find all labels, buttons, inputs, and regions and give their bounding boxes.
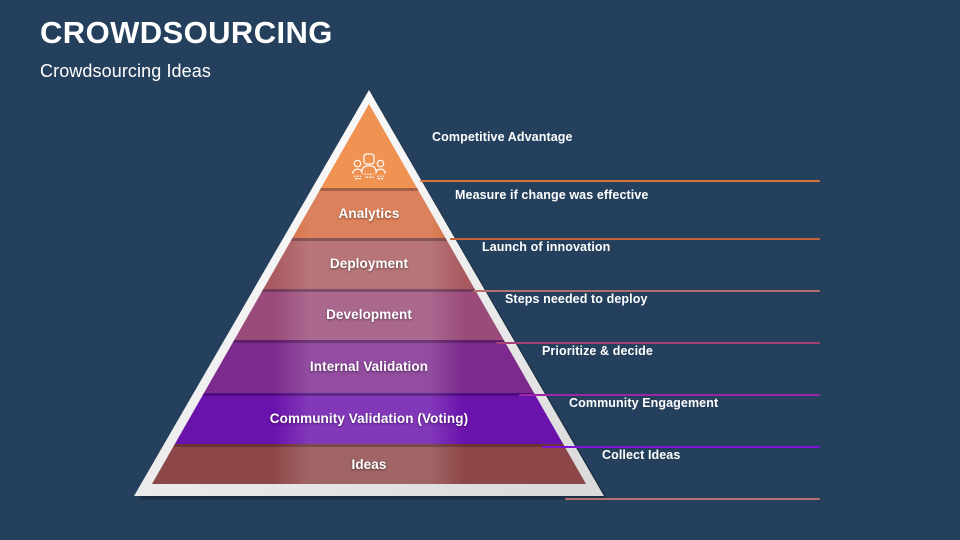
crowd-people-icon xyxy=(352,152,386,180)
page-title: CROWDSOURCING xyxy=(40,16,333,50)
legend-text-5: Prioritize & decide xyxy=(542,344,653,358)
legend-text-4: Steps needed to deploy xyxy=(505,292,648,306)
legend-text-7: Collect Ideas xyxy=(602,448,680,462)
pyramid-level-2-label: Analytics xyxy=(339,206,400,221)
legend-text-1: Competitive Advantage xyxy=(432,130,573,144)
legend-rule-7 xyxy=(565,498,820,500)
legend-rule-6 xyxy=(542,446,820,448)
page-subtitle: Crowdsourcing Ideas xyxy=(40,61,211,82)
legend-text-2: Measure if change was effective xyxy=(455,188,648,202)
slide-canvas: CROWDSOURCING Crowdsourcing Ideas Analyt… xyxy=(0,0,960,540)
legend-list: Competitive Advantage Measure if change … xyxy=(420,110,840,500)
legend-text-6: Community Engagement xyxy=(569,396,718,410)
pyramid-level-4-label: Development xyxy=(326,307,412,322)
legend-text-3: Launch of innovation xyxy=(482,240,610,254)
pyramid-level-3-label: Deployment xyxy=(330,256,408,271)
legend-rule-1 xyxy=(420,180,820,182)
pyramid-level-7-label: Ideas xyxy=(351,457,386,472)
pyramid-level-5-label: Internal Validation xyxy=(310,359,428,374)
